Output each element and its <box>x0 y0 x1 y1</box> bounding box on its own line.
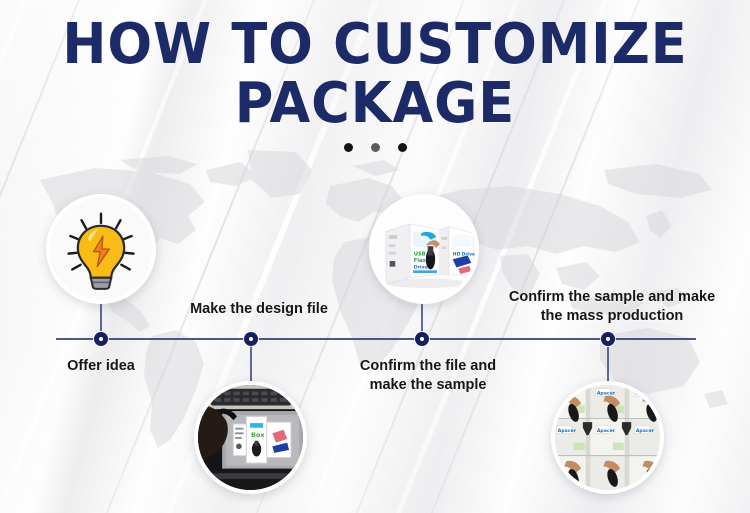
connector-step-4 <box>607 340 609 382</box>
timeline-node-4[interactable] <box>601 332 615 346</box>
step-4-label-line-1: Confirm the sample and make <box>502 288 722 307</box>
timeline-node-2[interactable] <box>244 332 258 346</box>
step-1-label-line-1: Offer idea <box>41 357 161 376</box>
title-divider-dots <box>0 143 750 152</box>
divider-dot-1 <box>344 143 353 152</box>
svg-text:Apacer: Apacer <box>558 428 577 434</box>
retail-boxes-photo: USB Flash Drive HD Drive <box>373 198 475 300</box>
step-3-label: Confirm the file and make the sample <box>348 357 508 394</box>
svg-text:Drive: Drive <box>414 264 428 270</box>
step-3-label-line-1: Confirm the file and <box>348 357 508 376</box>
step-3-label-line-2: make the sample <box>348 376 508 395</box>
title-line-2: PACKAGE <box>23 77 728 132</box>
step-1-label: Offer idea <box>41 357 161 376</box>
step-2-photo-circle[interactable]: Box <box>194 381 307 494</box>
page-title: HOW TO CUSTOMIZE PACKAGE <box>0 18 750 132</box>
step-4-label-line-2: the mass production <box>502 307 722 326</box>
connector-step-2 <box>250 340 252 382</box>
step-4-photo-circle[interactable]: Apacer Apacer Apacer Apacer Apacer Apace… <box>551 381 664 494</box>
step-2-label-line-1: Make the design file <box>179 300 339 319</box>
svg-text:Apacer: Apacer <box>597 391 616 397</box>
svg-text:Apacer: Apacer <box>636 428 655 434</box>
lightbulb-idea-icon <box>50 198 152 300</box>
timeline-axis <box>56 338 696 340</box>
step-2-label: Make the design file <box>179 300 339 319</box>
step-4-label: Confirm the sample and make the mass pro… <box>502 288 722 325</box>
svg-text:Apacer: Apacer <box>597 428 616 434</box>
timeline-node-1[interactable] <box>94 332 108 346</box>
step-1-icon-circle[interactable] <box>46 194 156 304</box>
svg-text:Apacer: Apacer <box>558 391 577 397</box>
timeline-node-3[interactable] <box>415 332 429 346</box>
infographic-canvas: HOW TO CUSTOMIZE PACKAGE <box>0 0 750 513</box>
title-line-1: HOW TO CUSTOMIZE <box>23 18 728 73</box>
svg-text:Box: Box <box>251 431 265 439</box>
step-3-photo-circle[interactable]: USB Flash Drive HD Drive <box>369 194 479 304</box>
warehouse-cartons-photo: Apacer Apacer Apacer Apacer Apacer Apace… <box>555 385 660 490</box>
svg-text:USB: USB <box>414 251 426 257</box>
divider-dot-2 <box>371 143 380 152</box>
laptop-design-photo: Box <box>198 385 303 490</box>
divider-dot-3 <box>398 143 407 152</box>
svg-text:Apacer: Apacer <box>636 391 655 397</box>
